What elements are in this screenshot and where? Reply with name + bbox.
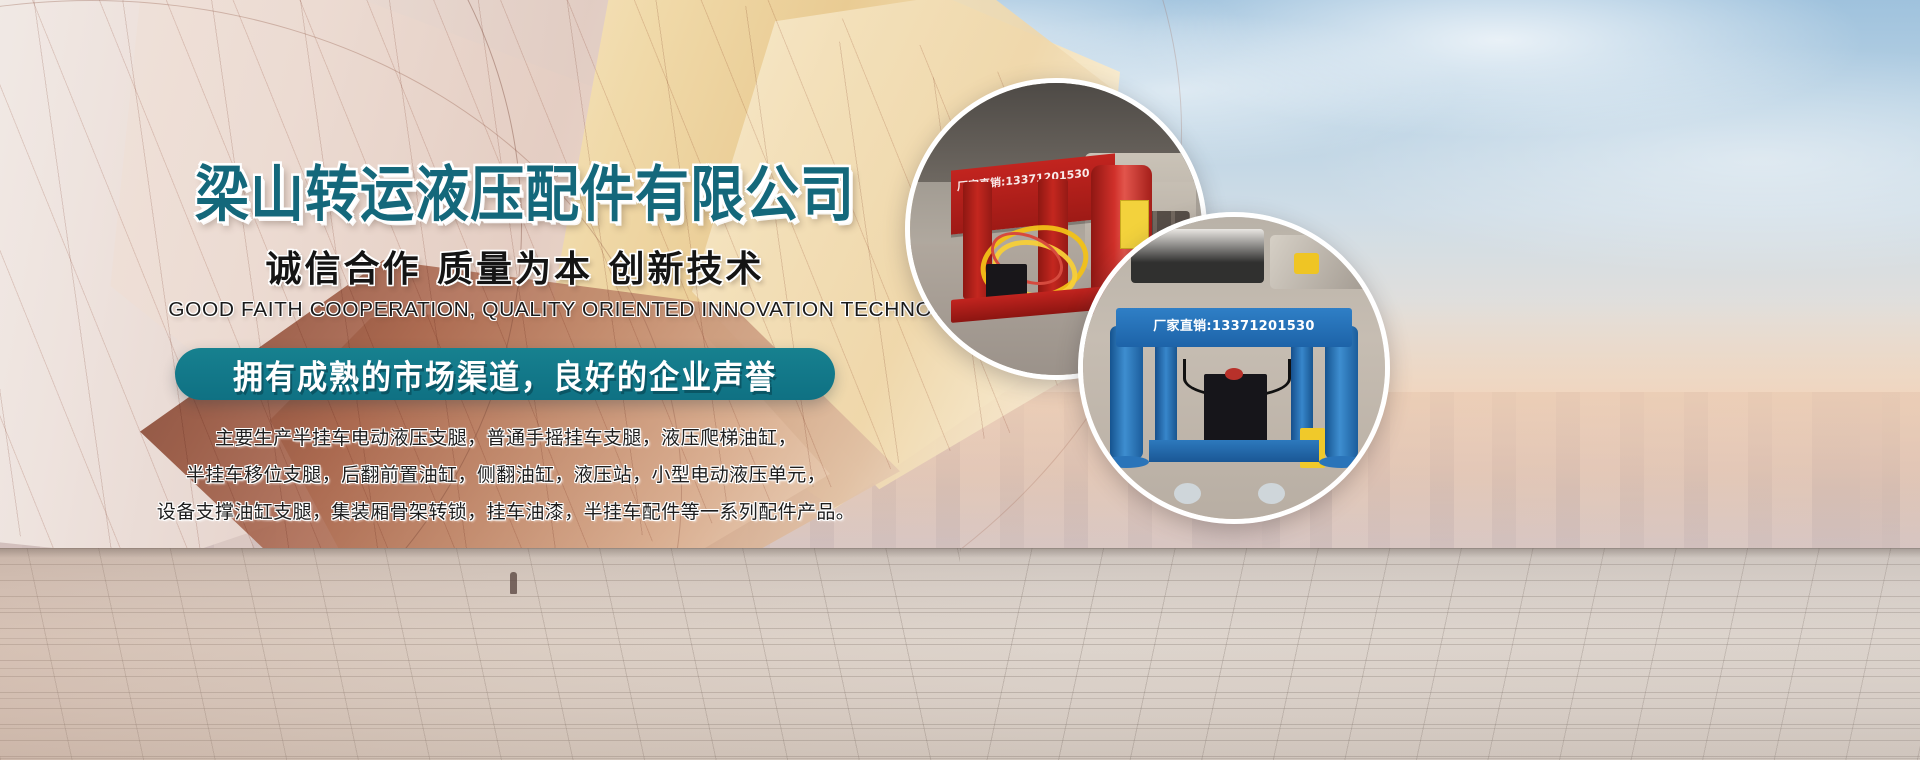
banner-copy-block: 梁山转运液压配件有限公司 诚信合作 质量为本 创新技术 GOOD FAITH C… (0, 0, 1060, 760)
description-line-2: 半挂车移位支腿，后翻前置油缸，侧翻油缸，液压站，小型电动液压单元， (150, 457, 862, 494)
page-title: 梁山转运液压配件有限公司 (195, 160, 835, 229)
blue-machine-deck (1149, 440, 1318, 461)
subtitle-chinese: 诚信合作 质量为本 创新技术 (195, 248, 835, 292)
background-debris (1270, 235, 1373, 289)
caster-wheel-right (1258, 483, 1285, 504)
subtitle-english: GOOD FAITH COOPERATION, QUALITY ORIENTED… (168, 298, 862, 322)
pump-red-cap (1225, 368, 1243, 380)
slogan-pill-label: 拥有成熟的市场渠道，良好的企业声誉 (233, 350, 777, 398)
background-vehicle (1131, 229, 1264, 283)
blue-machine-phone-label: 厂家直销:13371201530 (1122, 315, 1345, 334)
product-description: 主要生产半挂车电动液压支腿，普通手摇挂车支腿，液压爬梯油缸， 半挂车移位支腿，后… (150, 420, 862, 531)
slogan-pill-badge: 拥有成熟的市场渠道，良好的企业声誉 (175, 348, 835, 400)
blue-foot-pad-right (1319, 456, 1364, 468)
blue-hydraulic-unit-photo: 厂家直销:13371201530 (1078, 212, 1390, 524)
description-line-1: 主要生产半挂车电动液压支腿，普通手摇挂车支腿，液压爬梯油缸， (150, 420, 862, 457)
blue-photo-scene: 厂家直销:13371201530 (1083, 217, 1385, 519)
blue-foot-pad-left (1104, 456, 1149, 468)
hero-banner: 梁山转运液压配件有限公司 诚信合作 质量为本 创新技术 GOOD FAITH C… (0, 0, 1920, 760)
blue-support-leg-left (1155, 344, 1176, 447)
caster-wheel-left (1174, 483, 1201, 504)
description-line-3: 设备支撑油缸支腿，集装厢骨架转锁，挂车油漆，半挂车配件等一系列配件产品。 (150, 494, 862, 531)
yellow-object (1294, 253, 1318, 274)
